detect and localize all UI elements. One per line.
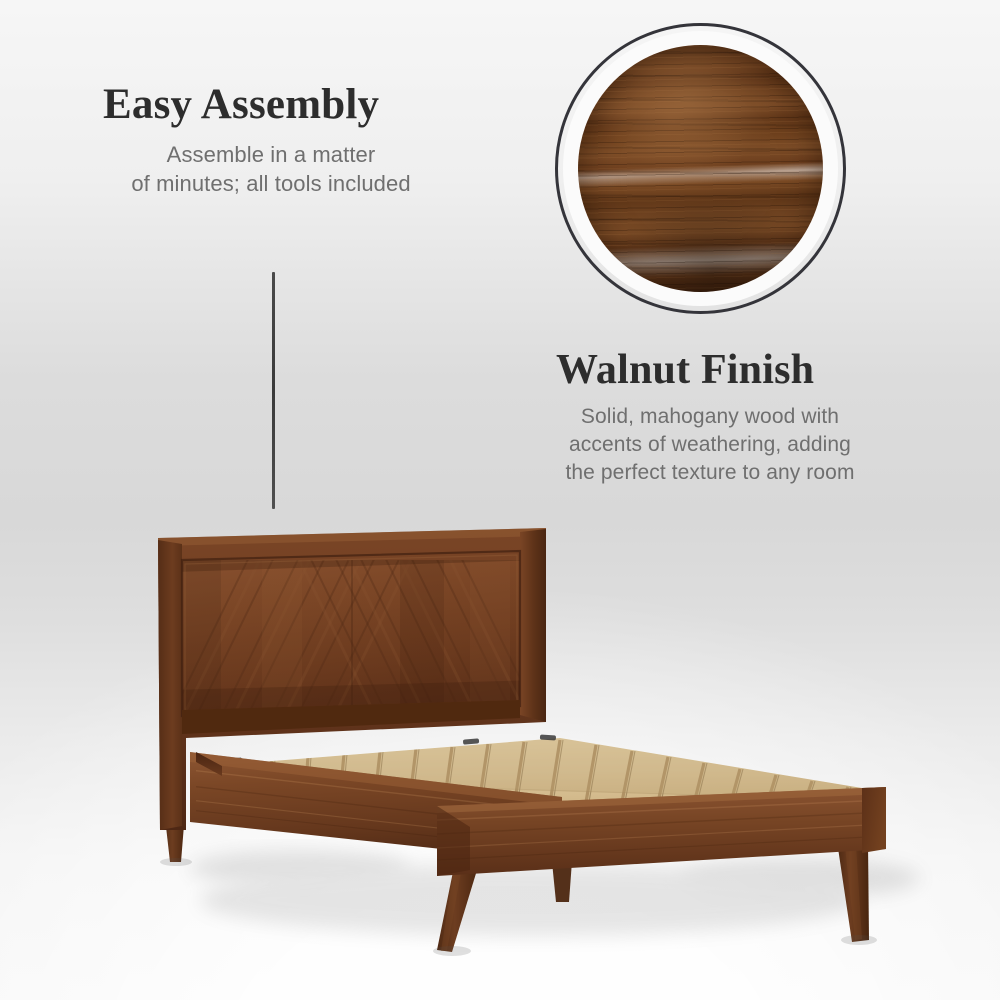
headboard-left-post xyxy=(158,540,182,830)
platform-bed-illustration xyxy=(0,0,1000,1000)
foot-rail-end-cap xyxy=(862,787,886,853)
product-feature-graphic: Easy Assembly Assemble in a matterof min… xyxy=(0,0,1000,1000)
headboard-right-post xyxy=(520,529,546,722)
